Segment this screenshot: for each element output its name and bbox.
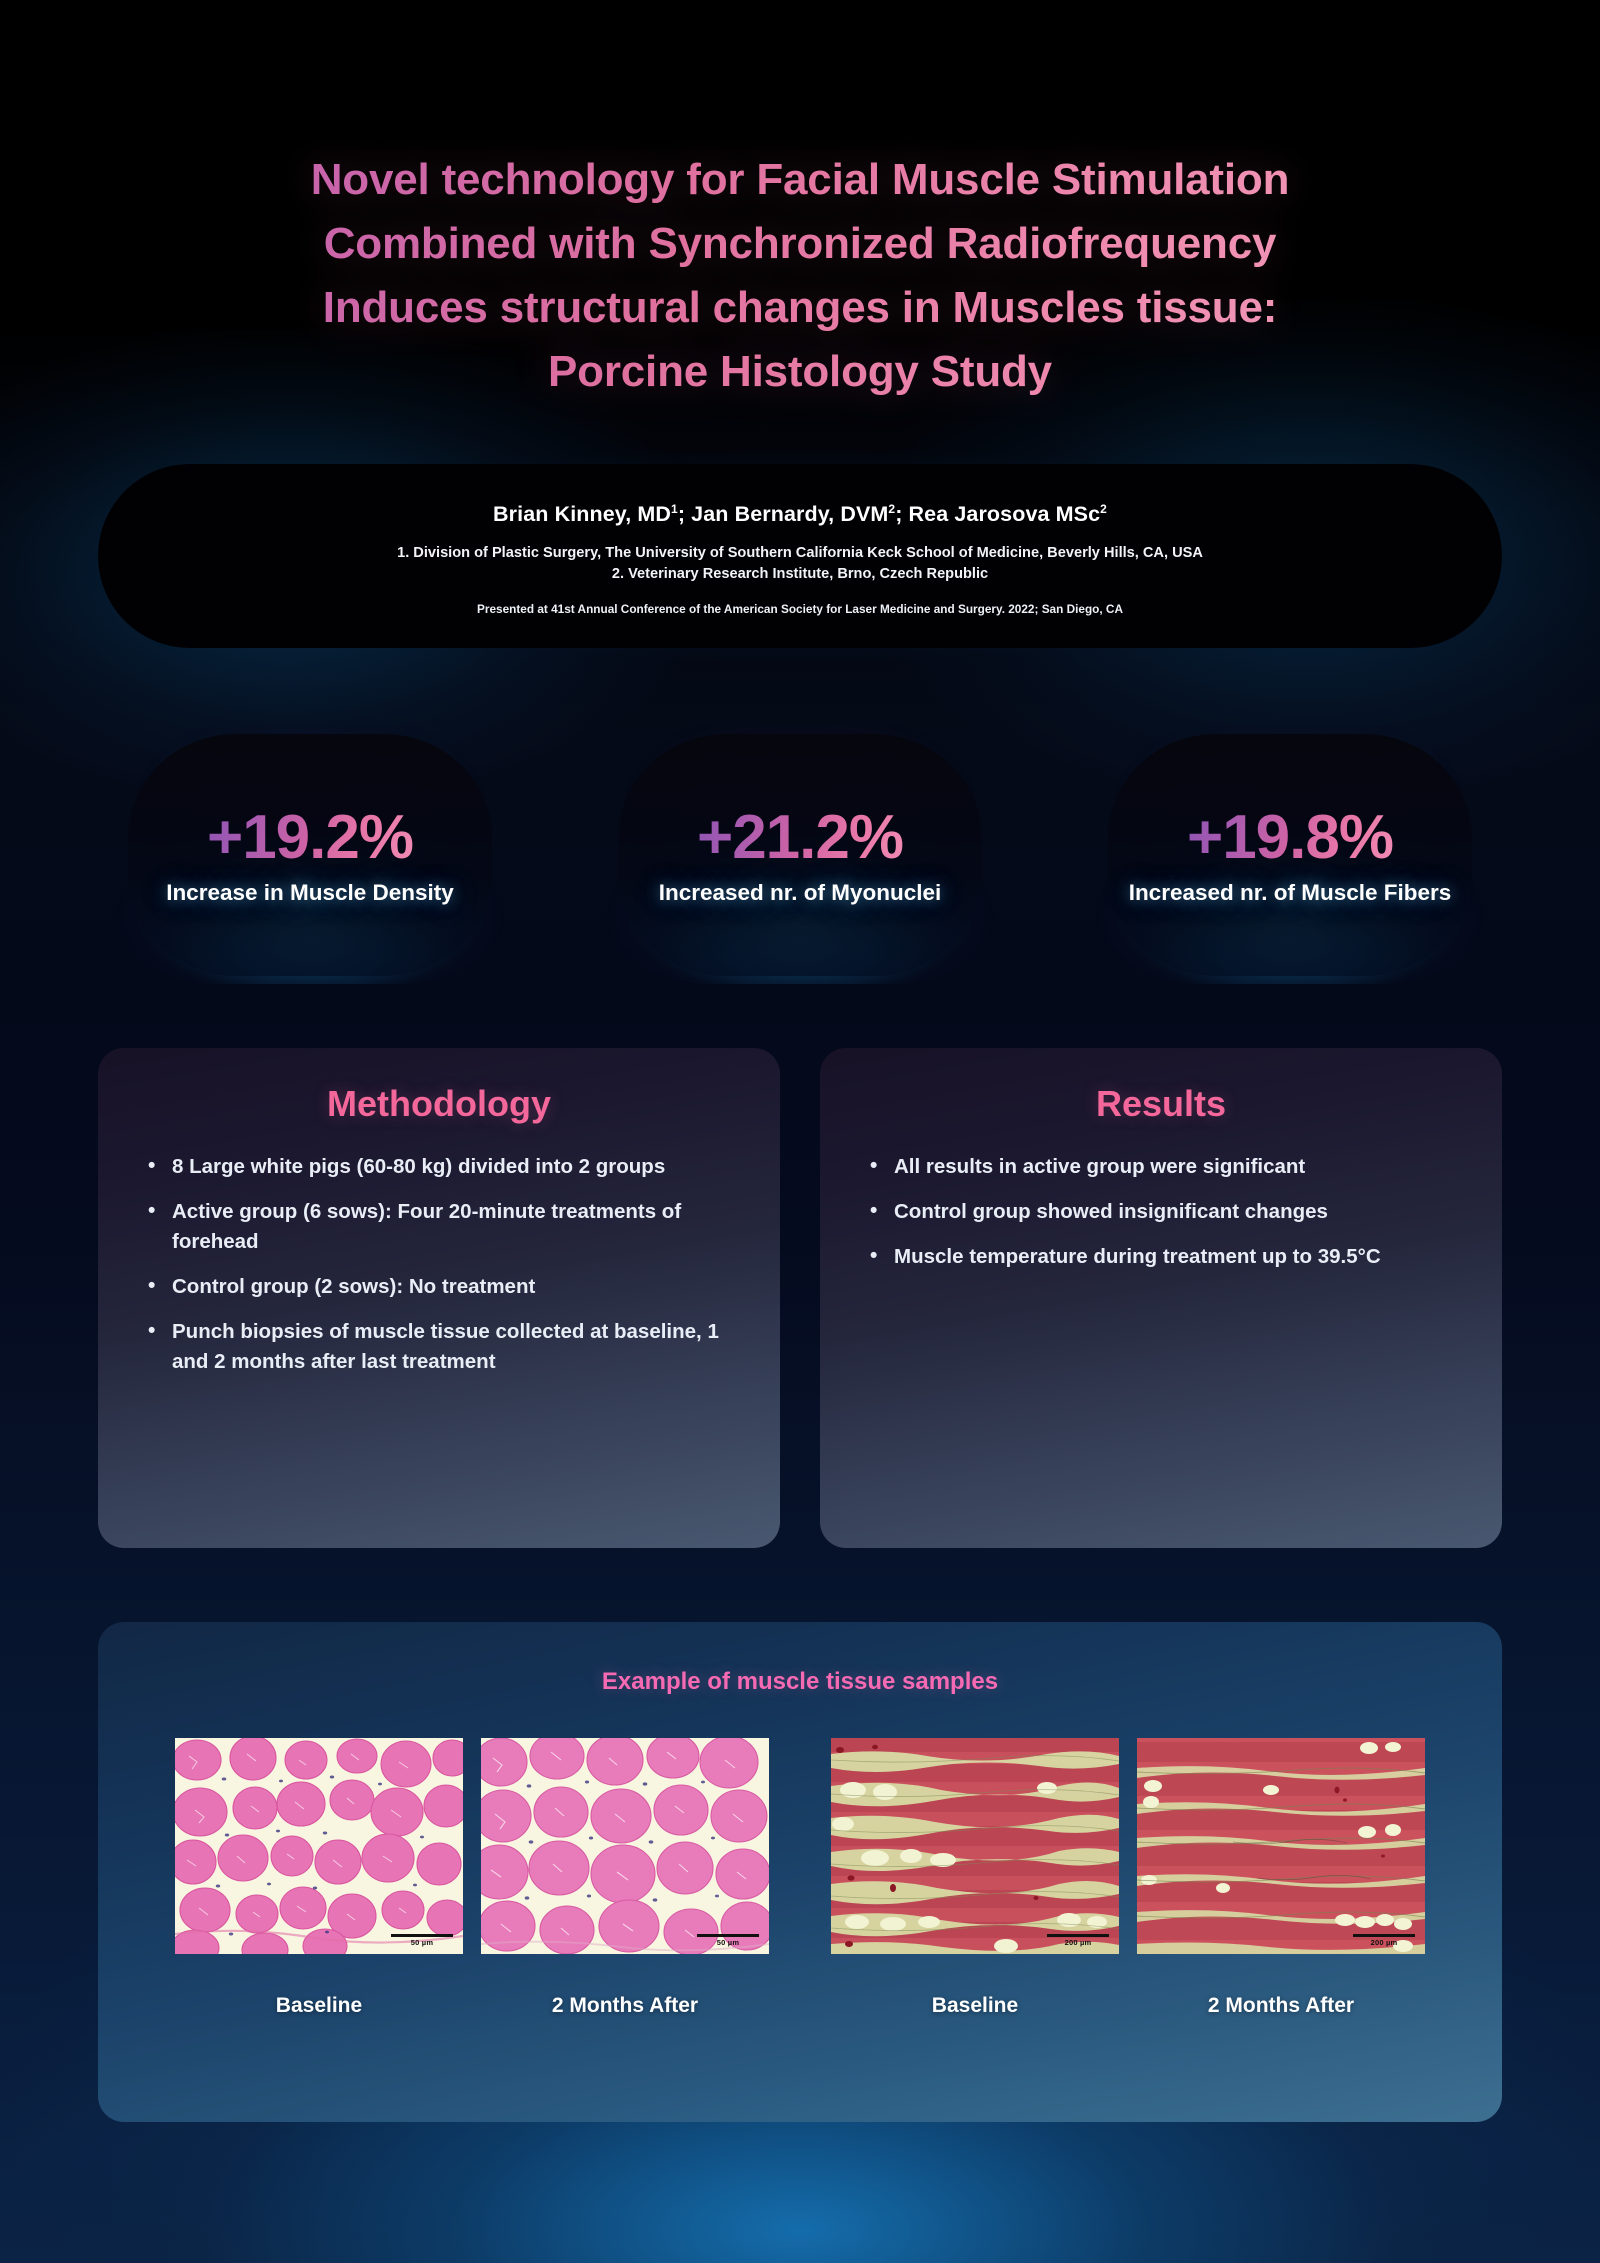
affiliation-1: 1. Division of Plastic Surgery, The Univ… — [397, 543, 1203, 564]
he-cross-section-image — [481, 1738, 769, 1954]
affiliation-2: 2. Veterinary Research Institute, Brno, … — [612, 564, 988, 585]
sample-long-2-months: 200 µm 2 Months After — [1137, 1738, 1425, 2018]
histology-thumbnail: 50 µm — [175, 1738, 463, 1954]
scale-bar-label: 50 µm — [717, 1938, 739, 1947]
author-names-part-2: ; Jan Bernardy, DVM — [678, 502, 889, 526]
methodology-list: 8 Large white pigs (60-80 kg) divided in… — [132, 1152, 746, 1377]
statistics-row: +19.2% Increase in Muscle Density +21.2%… — [90, 726, 1510, 984]
samples-title: Example of muscle tissue samples — [98, 1668, 1502, 1696]
masson-longitudinal-image — [1137, 1738, 1425, 1954]
scale-bar-line — [1047, 1934, 1109, 1937]
tissue-samples-panel: Example of muscle tissue samples — [98, 1622, 1502, 2122]
samples-grid: 50 µm Baseline — [98, 1738, 1502, 2018]
sample-caption: Baseline — [175, 1994, 463, 2018]
scale-bar: 50 µm — [697, 1934, 759, 1947]
stat-label: Increased nr. of Myonuclei — [659, 879, 942, 907]
poster-title: Novel technology for Facial Muscle Stimu… — [0, 148, 1600, 404]
author-names: Brian Kinney, MD1; Jan Bernardy, DVM2; R… — [493, 502, 1107, 527]
scale-bar: 200 µm — [1047, 1934, 1109, 1947]
scale-bar-label: 200 µm — [1371, 1938, 1398, 1947]
scale-bar-label: 200 µm — [1065, 1938, 1092, 1947]
stat-card-muscle-fibers: +19.8% Increased nr. of Muscle Fibers — [1070, 726, 1510, 984]
sample-pair-cross-section: 50 µm Baseline — [175, 1738, 769, 2018]
poster-root: Novel technology for Facial Muscle Stimu… — [0, 0, 1600, 2263]
scale-bar-line — [1353, 1934, 1415, 1937]
histology-thumbnail: 200 µm — [1137, 1738, 1425, 1954]
histology-thumbnail: 50 µm — [481, 1738, 769, 1954]
presented-at-note: Presented at 41st Annual Conference of t… — [477, 602, 1123, 616]
stat-value: +19.8% — [1187, 803, 1393, 873]
sample-cross-baseline: 50 µm Baseline — [175, 1738, 463, 2018]
scale-bar: 200 µm — [1353, 1934, 1415, 1947]
he-cross-section-image — [175, 1738, 463, 1954]
scale-bar: 50 µm — [391, 1934, 453, 1947]
list-item: Punch biopsies of muscle tissue collecte… — [132, 1317, 746, 1377]
stat-value: +21.2% — [697, 803, 903, 873]
stat-value: +19.2% — [207, 803, 413, 873]
list-item: Muscle temperature during treatment up t… — [854, 1242, 1468, 1272]
masson-longitudinal-image — [831, 1738, 1119, 1954]
title-line-1: Novel technology for Facial Muscle Stimu… — [0, 148, 1600, 212]
methodology-panel: Methodology 8 Large white pigs (60-80 kg… — [98, 1048, 780, 1548]
scale-bar-label: 50 µm — [411, 1938, 433, 1947]
content-panels: Methodology 8 Large white pigs (60-80 kg… — [98, 1048, 1502, 1548]
results-title: Results — [854, 1082, 1468, 1126]
stat-card-muscle-density: +19.2% Increase in Muscle Density — [90, 726, 530, 984]
title-line-3: Induces structural changes in Muscles ti… — [0, 276, 1600, 340]
sample-caption: Baseline — [831, 1994, 1119, 2018]
stat-label: Increase in Muscle Density — [166, 879, 454, 907]
scale-bar-line — [391, 1934, 453, 1937]
list-item: 8 Large white pigs (60-80 kg) divided in… — [132, 1152, 746, 1182]
sample-cross-2-months: 50 µm 2 Months After — [481, 1738, 769, 2018]
author-card: Brian Kinney, MD1; Jan Bernardy, DVM2; R… — [98, 464, 1502, 648]
author-sup-3: 2 — [1100, 502, 1107, 516]
title-line-4: Porcine Histology Study — [0, 340, 1600, 404]
methodology-title: Methodology — [132, 1082, 746, 1126]
sample-pair-longitudinal: 200 µm Baseline — [831, 1738, 1425, 2018]
histology-thumbnail: 200 µm — [831, 1738, 1119, 1954]
sample-caption: 2 Months After — [1137, 1994, 1425, 2018]
results-panel: Results All results in active group were… — [820, 1048, 1502, 1548]
list-item: Control group (2 sows): No treatment — [132, 1272, 746, 1302]
results-list: All results in active group were signifi… — [854, 1152, 1468, 1272]
title-line-2: Combined with Synchronized Radiofrequenc… — [0, 212, 1600, 276]
sample-caption: 2 Months After — [481, 1994, 769, 2018]
author-sup-1: 1 — [671, 502, 678, 516]
author-names-part-1: Brian Kinney, MD — [493, 502, 671, 526]
list-item: All results in active group were signifi… — [854, 1152, 1468, 1182]
sample-long-baseline: 200 µm Baseline — [831, 1738, 1119, 2018]
list-item: Control group showed insignificant chang… — [854, 1197, 1468, 1227]
list-item: Active group (6 sows): Four 20-minute tr… — [132, 1197, 746, 1257]
stat-label: Increased nr. of Muscle Fibers — [1129, 879, 1452, 907]
scale-bar-line — [697, 1934, 759, 1937]
author-names-part-3: ; Rea Jarosova MSc — [895, 502, 1100, 526]
stat-card-myonuclei: +21.2% Increased nr. of Myonuclei — [580, 726, 1020, 984]
